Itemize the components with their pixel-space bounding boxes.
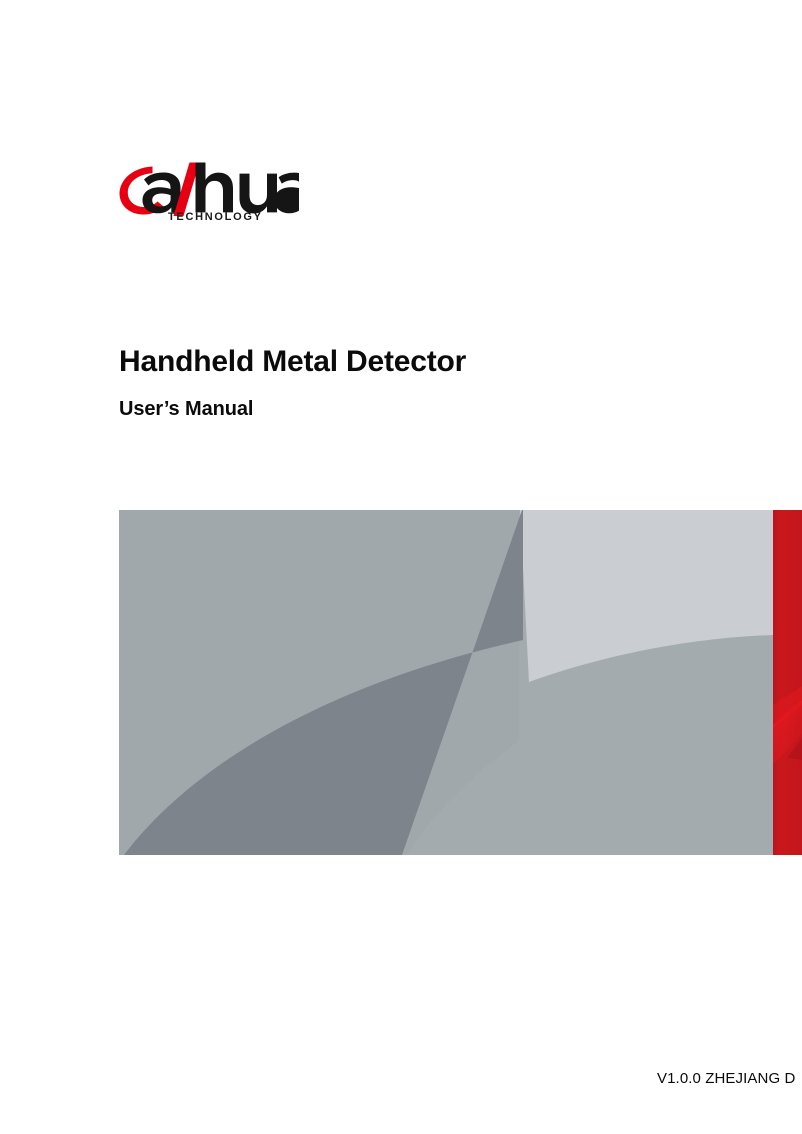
logo-tagline: TECHNOLOGY <box>168 212 263 223</box>
footer-version-text: V1.0.0 ZHEJIANG D <box>657 1070 795 1087</box>
dahua-logo: TECHNOLOGY <box>119 162 299 230</box>
abstract-geometric-cover-graphic <box>119 510 802 855</box>
page-title: Handheld Metal Detector <box>119 345 466 378</box>
page-subtitle: User’s Manual <box>119 398 253 420</box>
banner-red-stripe <box>773 510 802 855</box>
cover-banner-image <box>119 510 802 855</box>
